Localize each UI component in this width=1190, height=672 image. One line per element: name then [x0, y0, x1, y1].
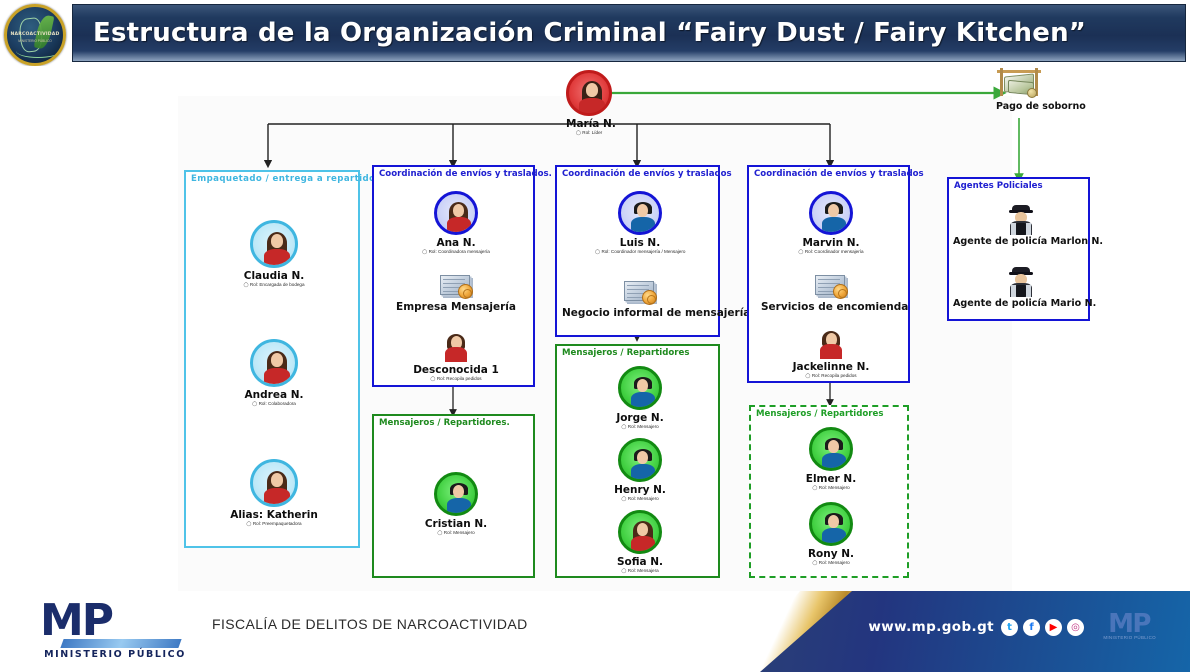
node-role: ◯ Rol: Líder	[566, 130, 612, 136]
police-officer-icon	[1008, 205, 1034, 235]
node-role: ◯ Rol: Coordinador mensajería / Mensajer…	[595, 249, 685, 255]
courier-company-icon	[813, 273, 849, 299]
role-text: Rol: Colaboradora	[259, 401, 296, 406]
org-chart-canvas: María N. ◯ Rol: Líder Pago de soborno Em…	[0, 66, 1190, 591]
node-label: Jorge N.	[596, 412, 684, 424]
avatar	[809, 191, 853, 235]
page-title: Estructura de la Organización Criminal “…	[93, 18, 1086, 48]
role-text: Rol: Preempaquetadora	[253, 521, 302, 526]
group-title: Mensajeros / Repartidores	[756, 409, 884, 419]
group-title: Agentes Policiales	[954, 181, 1043, 191]
node-katherin[interactable]: Alias: Katherin ◯ Rol: Preempaquetadora	[224, 459, 324, 527]
node-label: Rony N.	[787, 548, 875, 560]
node-label: Marvin N.	[787, 237, 875, 249]
group-title: Mensajeros / Repartidores.	[379, 418, 510, 428]
avatar	[809, 502, 853, 546]
avatar	[618, 366, 662, 410]
footer-department: FISCALÍA DE DELITOS DE NARCOACTIVIDAD	[212, 616, 528, 632]
node-jorge[interactable]: Jorge N. ◯ Rol: Mensajero	[596, 366, 684, 430]
node-label: Servicios de encomienda	[761, 301, 901, 313]
group-mensajeros-b[interactable]: Mensajeros / Repartidores Jorge N. ◯ Rol…	[555, 344, 720, 578]
group-title: Empaquetado / entrega a repartidores	[191, 174, 392, 184]
node-bribe-payment[interactable]: Pago de soborno	[996, 68, 1042, 112]
node-label: Luis N.	[595, 237, 685, 249]
mp-logo-swoosh	[60, 639, 181, 648]
node-marvin[interactable]: Marvin N. ◯ Rol: Coordinador mensajería	[787, 191, 875, 255]
bribe-label: Pago de soborno	[996, 101, 1042, 112]
node-label: Negocio informal de mensajería	[562, 307, 717, 319]
facebook-icon[interactable]: f	[1023, 619, 1040, 636]
group-coordinacion-ana[interactable]: Coordinación de envíos y traslados. Ana …	[372, 165, 535, 387]
node-luis[interactable]: Luis N. ◯ Rol: Coordinador mensajería / …	[595, 191, 685, 255]
node-role: ◯ Rol: Mensajero	[787, 485, 875, 491]
role-text: Rol: Mensajero	[444, 530, 475, 535]
group-title: Coordinación de envíos y traslados.	[379, 169, 552, 179]
avatar	[442, 332, 470, 362]
role-text: Rol: Líder	[582, 130, 602, 135]
node-rony[interactable]: Rony N. ◯ Rol: Mensajero	[787, 502, 875, 566]
role-text: Rol: Coordinador mensajería / Mensajero	[601, 249, 685, 254]
role-text: Rol: Coordinadora mensajería	[429, 249, 490, 254]
node-role: ◯ Rol: Coordinador mensajería	[787, 249, 875, 255]
node-label: Empresa Mensajería	[394, 301, 518, 313]
node-label: Andrea N.	[230, 389, 318, 401]
group-coordinacion-marvin[interactable]: Coordinación de envíos y traslados Marvi…	[747, 165, 910, 383]
node-desconocida-1[interactable]: Desconocida 1 ◯ Rol: Recopila pedidos	[404, 332, 508, 382]
crest-text: NARCOACTIVIDAD	[7, 32, 63, 37]
group-title: Mensajeros / Repartidores	[562, 348, 690, 358]
group-title: Coordinación de envíos y traslados	[562, 169, 732, 179]
node-claudia[interactable]: Claudia N. ◯ Rol: Encargada de bodega	[230, 220, 318, 288]
role-text: Rol: Mensajero	[819, 485, 850, 490]
role-text: Rol: Coordinador mensajería	[805, 249, 864, 254]
node-servicios-encomienda[interactable]: Servicios de encomienda	[761, 273, 901, 313]
role-text: Rol: Recopila pedidos	[812, 373, 857, 378]
avatar	[250, 459, 298, 507]
node-agente-mario[interactable]: Agente de policía Mario N.	[953, 267, 1088, 309]
role-text: Rol: Mensajero	[628, 496, 659, 501]
role-text: Rol: Mensajero	[628, 424, 659, 429]
group-mensajeros-c[interactable]: Mensajeros / Repartidores Elmer N. ◯ Rol…	[749, 405, 909, 578]
node-role: ◯ Rol: Recopila pedidos	[779, 373, 883, 379]
node-leader-maria[interactable]: María N. ◯ Rol: Líder	[566, 70, 612, 136]
node-label: Cristian N.	[412, 518, 500, 530]
node-label: María N.	[566, 118, 612, 130]
node-label: Agente de policía Mario N.	[953, 298, 1088, 309]
group-empaquetado[interactable]: Empaquetado / entrega a repartidores Cla…	[184, 170, 360, 548]
mp-logo: MP MINISTERIO PÚBLICO	[40, 599, 190, 663]
node-label: Agente de policía Marlon N.	[953, 236, 1088, 247]
node-role: ◯ Rol: Recopila pedidos	[404, 376, 508, 382]
node-agente-marlon[interactable]: Agente de policía Marlon N.	[953, 205, 1088, 247]
node-role: ◯ Rol: Mensajero	[596, 424, 684, 430]
group-title: Coordinación de envíos y traslados	[754, 169, 924, 179]
avatar	[817, 329, 845, 359]
avatar	[618, 438, 662, 482]
avatar	[250, 220, 298, 268]
twitter-icon[interactable]: t	[1001, 619, 1018, 636]
node-role: ◯ Rol: Mensajero	[787, 560, 875, 566]
youtube-icon[interactable]: ▶	[1045, 619, 1062, 636]
node-role: ◯ Rol: Colaboradora	[230, 401, 318, 407]
crest-subtext: MINISTERIO PÚBLICO	[7, 39, 63, 43]
footer-website[interactable]: www.mp.gob.gt	[868, 619, 994, 635]
node-label: Claudia N.	[230, 270, 318, 282]
node-role: ◯ Rol: Preempaquetadora	[224, 521, 324, 527]
node-label: Ana N.	[412, 237, 500, 249]
node-henry[interactable]: Henry N. ◯ Rol: Mensajero	[596, 438, 684, 502]
role-text: Rol: Encargada de bodega	[250, 282, 305, 287]
node-label: Sofia N.	[596, 556, 684, 568]
mp-logo-text: MP	[40, 599, 190, 643]
police-officer-icon	[1008, 267, 1034, 297]
avatar	[434, 472, 478, 516]
narcoactividad-crest-icon: NARCOACTIVIDAD MINISTERIO PÚBLICO	[4, 4, 66, 66]
page-footer: MP MINISTERIO PÚBLICO FISCALÍA DE DELITO…	[0, 591, 1190, 672]
node-label: Jackelinne N.	[779, 361, 883, 373]
node-negocio-informal[interactable]: Negocio informal de mensajería	[562, 279, 717, 319]
mp-logo-subtitle: MINISTERIO PÚBLICO	[40, 649, 190, 660]
node-label: Elmer N.	[787, 473, 875, 485]
mp-watermark-subtitle: MINISTERIO PÚBLICO	[1103, 635, 1156, 640]
node-role: ◯ Rol: Coordinadora mensajería	[412, 249, 500, 255]
node-sofia[interactable]: Sofia N. ◯ Rol: Mensajera	[596, 510, 684, 574]
node-ana[interactable]: Ana N. ◯ Rol: Coordinadora mensajería	[412, 191, 500, 255]
header-band: Estructura de la Organización Criminal “…	[72, 4, 1186, 62]
role-text: Rol: Mensajera	[628, 568, 659, 573]
avatar	[618, 191, 662, 235]
role-text: Rol: Recopila pedidos	[437, 376, 482, 381]
node-andrea[interactable]: Andrea N. ◯ Rol: Colaboradora	[230, 339, 318, 407]
node-role: ◯ Rol: Mensajero	[596, 496, 684, 502]
group-agentes-policiales[interactable]: Agentes Policiales Agente de policía Mar…	[947, 177, 1090, 321]
avatar	[618, 510, 662, 554]
money-icon	[997, 68, 1041, 98]
avatar	[434, 191, 478, 235]
node-label: Desconocida 1	[404, 364, 508, 376]
avatar	[250, 339, 298, 387]
node-label: Henry N.	[596, 484, 684, 496]
group-mensajeros-a[interactable]: Mensajeros / Repartidores. Cristian N. ◯…	[372, 414, 535, 578]
node-empresa-mensajeria[interactable]: Empresa Mensajería	[394, 273, 518, 313]
node-jackelinne[interactable]: Jackelinne N. ◯ Rol: Recopila pedidos	[779, 329, 883, 379]
courier-company-icon	[438, 273, 474, 299]
role-text: Rol: Mensajero	[819, 560, 850, 565]
node-label: Alias: Katherin	[224, 509, 324, 521]
instagram-icon[interactable]: ◎	[1067, 619, 1084, 636]
node-role: ◯ Rol: Encargada de bodega	[230, 282, 318, 288]
node-elmer[interactable]: Elmer N. ◯ Rol: Mensajero	[787, 427, 875, 491]
group-coordinacion-luis[interactable]: Coordinación de envíos y traslados Luis …	[555, 165, 720, 337]
node-role: ◯ Rol: Mensajera	[596, 568, 684, 574]
courier-company-icon	[622, 279, 658, 305]
node-role: ◯ Rol: Mensajero	[412, 530, 500, 536]
page-header: NARCOACTIVIDAD MINISTERIO PÚBLICO Estruc…	[0, 0, 1190, 66]
avatar	[566, 70, 612, 116]
avatar	[809, 427, 853, 471]
node-cristian[interactable]: Cristian N. ◯ Rol: Mensajero	[412, 472, 500, 536]
